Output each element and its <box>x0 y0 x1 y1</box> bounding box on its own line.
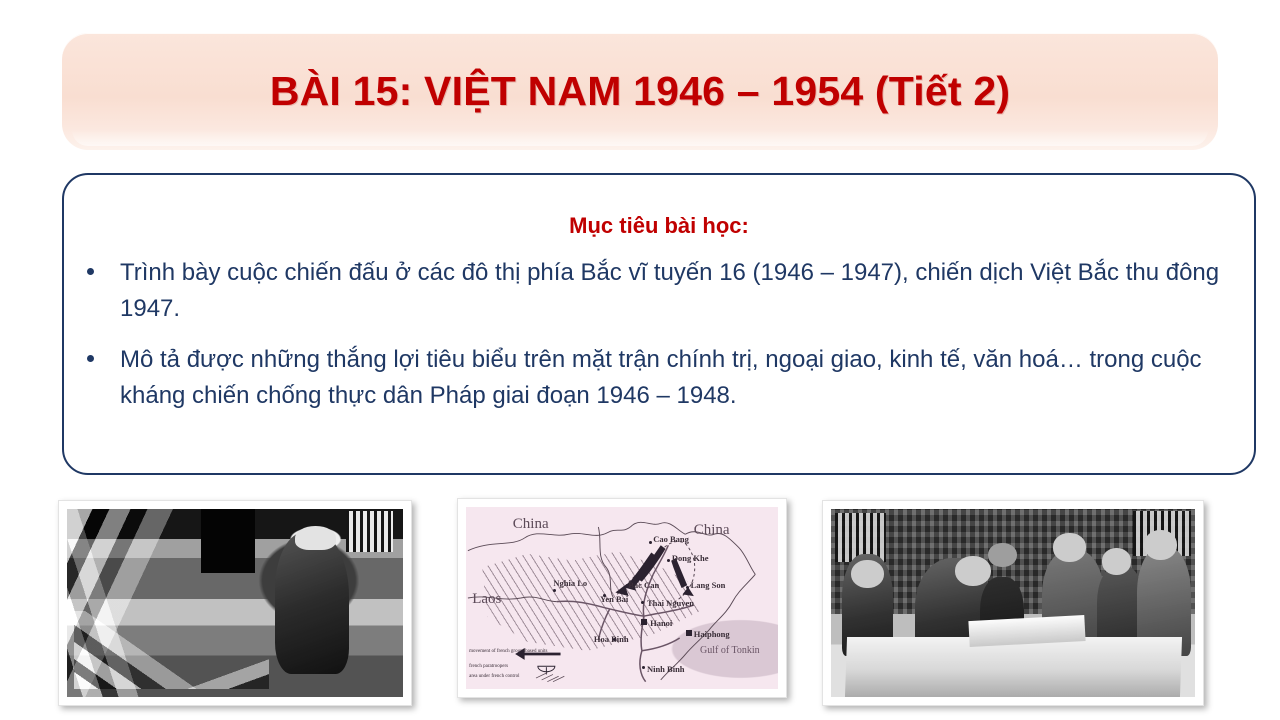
objective-box: Mục tiêu bài học: Trình bày cuộc chiến đ… <box>62 173 1256 475</box>
rubble-shape <box>74 611 269 690</box>
map-city-dot <box>649 541 652 544</box>
map-label-haiphong: Haiphong <box>694 629 730 639</box>
map-legend-paratroopers: french paratroopers <box>469 664 594 671</box>
map-label-hoa-binh: Hoa Binh <box>594 634 629 644</box>
map-label-nghia-lo: Nghia Lo <box>553 578 587 588</box>
page-title: BÀI 15: VIỆT NAM 1946 – 1954 (Tiết 2) <box>270 68 1010 115</box>
person-head-shape <box>988 543 1017 567</box>
window-grill-shape <box>346 511 393 552</box>
person-head-shape <box>851 560 884 588</box>
map-label-china-right: China <box>694 522 730 539</box>
objective-bullet-list: Trình bày cuộc chiến đấu ở các đô thị ph… <box>64 255 1254 415</box>
table-shape <box>844 637 1181 697</box>
soldier-in-rubble-photo <box>58 500 412 706</box>
person-head-shape <box>1144 530 1177 560</box>
map-port-marker <box>686 630 692 636</box>
slide-title-banner: BÀI 15: VIỆT NAM 1946 – 1954 (Tiết 2) <box>62 33 1218 150</box>
list-item-text: Mô tả được những thắng lợi tiêu biểu trê… <box>120 346 1202 409</box>
map-legend-control-area: area under french control <box>469 674 594 681</box>
bullet-dot-icon <box>87 355 94 362</box>
viet-bac-campaign-map: China China Laos Cao Bang Dong Khe Lang … <box>457 498 787 698</box>
person-head-shape <box>1102 548 1131 574</box>
map-label-lang-son: Lang Son <box>691 580 726 590</box>
list-item-text: Trình bày cuộc chiến đấu ở các đô thị ph… <box>120 259 1219 322</box>
soldier-figure-shape <box>275 532 349 675</box>
person-head-shape <box>1053 533 1086 561</box>
map-label-bac-can: Bac Can <box>628 580 659 590</box>
list-item: Mô tả được những thắng lợi tiêu biểu trê… <box>64 342 1254 415</box>
photo-content <box>67 509 403 697</box>
map-label-gulf-of-tonkin: Gulf of Tonkin <box>700 645 760 656</box>
leaders-around-map-table-photo <box>822 500 1204 706</box>
photo-inner <box>67 509 403 697</box>
map-label-dong-khe: Dong Khe <box>672 553 709 563</box>
person-head-shape <box>955 556 991 586</box>
photo-strip: China China Laos Cao Bang Dong Khe Lang … <box>0 495 1280 710</box>
bullet-dot-icon <box>87 268 94 275</box>
map-capital-marker <box>641 619 647 625</box>
map-label-hanoi: Hanoi <box>650 618 672 628</box>
list-item: Trình bày cuộc chiến đấu ở các đô thị ph… <box>64 255 1254 328</box>
photo-inner: China China Laos Cao Bang Dong Khe Lang … <box>466 507 778 689</box>
doorway-shape <box>201 509 255 573</box>
map-label-laos: Laos <box>472 591 501 608</box>
map-city-dot <box>641 601 644 604</box>
helmet-shape <box>295 526 335 550</box>
map-city-dot <box>613 638 616 641</box>
map-label-cao-bang: Cao Bang <box>653 534 689 544</box>
photo-content <box>831 509 1195 697</box>
map-label-china-left: China <box>513 516 549 533</box>
photo-inner <box>831 509 1195 697</box>
map-label-ninh-binh: Ninh Binh <box>647 664 685 674</box>
map-label-thai-nguyen: Thai Nguyen <box>647 598 694 608</box>
map-legend-movement: movement of french groundbased units <box>469 649 594 656</box>
objective-heading: Mục tiêu bài học: <box>64 213 1254 239</box>
map-content: China China Laos Cao Bang Dong Khe Lang … <box>466 507 778 689</box>
